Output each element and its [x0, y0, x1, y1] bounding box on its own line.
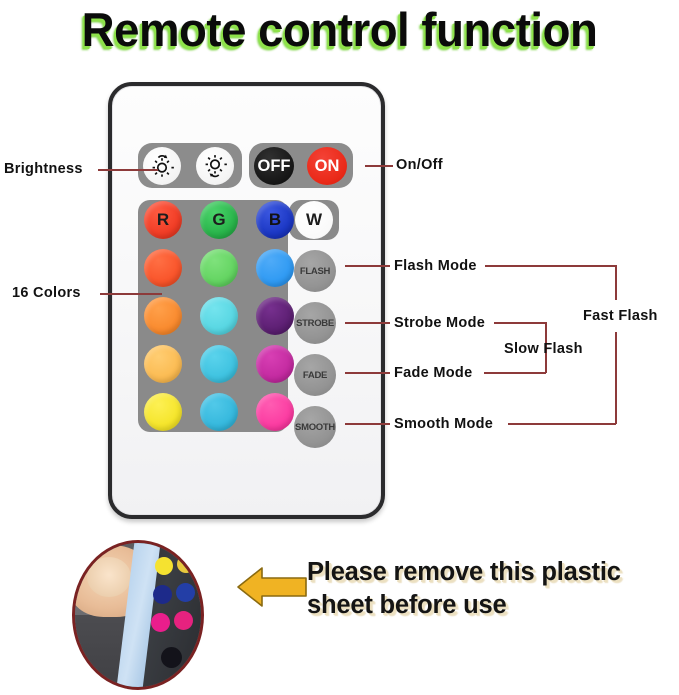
smooth-mode-button[interactable]: SMOOTH	[294, 406, 336, 448]
remove-sheet-notice: Please remove this plastic sheet before …	[307, 556, 667, 621]
page-title: Remote control function	[10, 2, 669, 57]
color-button-b[interactable]: B	[256, 201, 294, 239]
leader-line-flash	[345, 265, 390, 267]
leader-line-16-colors	[100, 293, 162, 295]
leader-line-fade	[345, 372, 390, 374]
off-button[interactable]: OFF	[254, 147, 294, 185]
bracket-fast-vertical-top	[615, 265, 617, 300]
photo-button-dot	[155, 557, 173, 575]
power-panel: OFF ON	[249, 143, 353, 188]
sun-up-icon	[149, 153, 175, 179]
photo-button-dot	[174, 611, 193, 630]
brightness-panel	[138, 143, 242, 188]
brightness-up-button[interactable]	[143, 147, 181, 185]
color-swatch[interactable]	[256, 345, 294, 383]
color-swatch[interactable]	[256, 393, 294, 431]
flash-mode-button[interactable]: FLASH	[294, 250, 336, 292]
color-swatch[interactable]	[200, 249, 238, 287]
leader-line-strobe	[345, 322, 390, 324]
bracket-smooth-to-fast	[508, 423, 616, 425]
notice-line-2: sheet before use	[307, 589, 667, 622]
bracket-strobe-to-slow	[494, 322, 546, 324]
color-swatch[interactable]	[144, 345, 182, 383]
color-swatch[interactable]	[144, 393, 182, 431]
photo-button-dot	[151, 613, 170, 632]
photo-button-dot	[153, 585, 172, 604]
bracket-fade-to-slow	[484, 372, 546, 374]
label-fast-flash: Fast Flash	[583, 308, 658, 324]
color-swatch[interactable]	[256, 297, 294, 335]
color-swatch[interactable]	[256, 249, 294, 287]
leader-line-onoff	[365, 165, 393, 167]
color-button-g[interactable]: G	[200, 201, 238, 239]
label-strobe-mode: Strobe Mode	[394, 315, 485, 331]
sun-down-icon	[202, 153, 228, 179]
label-slow-flash: Slow Flash	[504, 341, 583, 357]
label-flash-mode: Flash Mode	[394, 258, 477, 274]
color-swatch[interactable]	[144, 297, 182, 335]
remote-control-body: OFF ON R G B W FLASH STROBE FADE SMOOTH	[108, 82, 385, 519]
fade-mode-button[interactable]: FADE	[294, 354, 336, 396]
label-on-off: On/Off	[396, 157, 443, 173]
thumbnail-shape	[87, 557, 131, 597]
plastic-sheet-photo	[72, 540, 204, 690]
leader-line-smooth	[345, 423, 390, 425]
label-smooth-mode: Smooth Mode	[394, 416, 493, 432]
color-swatch[interactable]	[200, 345, 238, 383]
color-button-r[interactable]: R	[144, 201, 182, 239]
label-fade-mode: Fade Mode	[394, 365, 472, 381]
on-button[interactable]: ON	[307, 147, 347, 185]
label-16-colors: 16 Colors	[12, 285, 81, 301]
label-brightness: Brightness	[4, 161, 83, 177]
notice-line-1: Please remove this plastic	[307, 556, 667, 589]
brightness-down-button[interactable]	[196, 147, 234, 185]
color-swatch[interactable]	[144, 249, 182, 287]
color-swatch[interactable]	[200, 393, 238, 431]
photo-button-dot	[177, 555, 195, 573]
color-button-w[interactable]: W	[295, 201, 333, 239]
photo-button-dot	[161, 647, 182, 668]
photo-button-dot	[176, 583, 195, 602]
bracket-fast-vertical-bottom	[615, 332, 617, 424]
bracket-flash-to-fast	[485, 265, 616, 267]
strobe-mode-button[interactable]: STROBE	[294, 302, 336, 344]
left-arrow-icon	[236, 564, 308, 610]
color-swatch[interactable]	[200, 297, 238, 335]
leader-line-brightness	[98, 169, 158, 171]
